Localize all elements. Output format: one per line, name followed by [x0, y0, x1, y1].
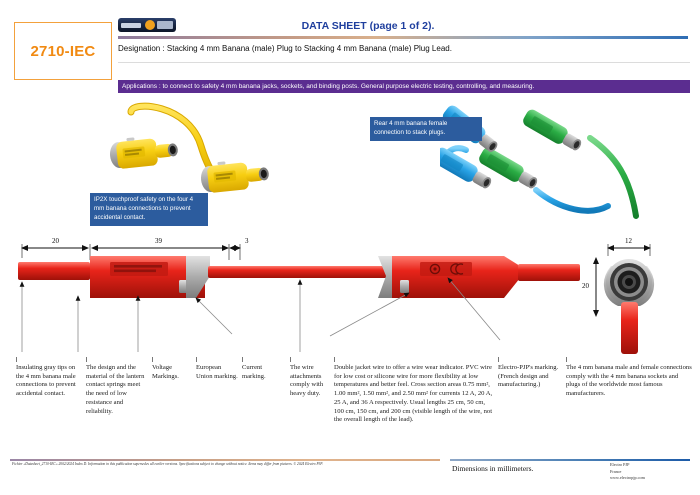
electro-pjp-logo-icon: [118, 18, 176, 32]
note-text: Current marking.: [242, 364, 266, 380]
designation-text: Designation : Stacking 4 mm Banana (male…: [118, 41, 690, 63]
note-tick: [498, 357, 499, 362]
note-text: Insulating gray tips on the 4 mm banana …: [16, 364, 76, 397]
note-voltage-markings: Voltage Markings.: [152, 364, 192, 381]
note-text: The design and the material of the lante…: [86, 364, 144, 415]
note-wire-spec: Double jacket wire to offer a wire wear …: [334, 364, 494, 425]
note-tick: [152, 357, 153, 362]
footer-legal-text: Fichier «Datasheet_2710-IEC» 2002/2024 I…: [12, 462, 442, 467]
logo-bar: [121, 23, 141, 28]
logo-text-block: [157, 21, 173, 29]
footer-rule-left: [10, 459, 440, 461]
note-text: Voltage Markings.: [152, 364, 179, 380]
note-text: Double jacket wire to offer a wire wear …: [334, 364, 492, 423]
datasheet-title: DATA SHEET (page 1 of 2).: [258, 20, 478, 32]
applications-banner: Applications : to connect to safety 4 mm…: [118, 80, 690, 93]
note-eu-marking: European Union marking.: [196, 364, 238, 381]
dim-39: 39: [155, 237, 162, 245]
note-text: The 4 mm banana male and female connecti…: [566, 364, 692, 397]
note-text: The wire attachments comply with heavy d…: [290, 364, 323, 397]
note-gray-tips: Insulating gray tips on the 4 mm banana …: [16, 364, 78, 399]
note-tick: [566, 357, 567, 362]
dim-3: 3: [245, 237, 249, 245]
footer-rule-right: [450, 459, 690, 461]
note-pjp-marking: Electro-PJP's marking. (French design an…: [498, 364, 560, 390]
rear-connection-callout: Rear 4 mm banana female connection to st…: [370, 117, 482, 141]
note-text: Electro-PJP's marking. (French design an…: [498, 364, 558, 388]
dim-20-right: 20: [582, 282, 589, 290]
header-gradient-rule: [118, 36, 688, 39]
note-text: European Union marking.: [196, 364, 238, 380]
product-reference: 2710-IEC: [31, 43, 96, 60]
footer-company-block: Electro PJP France www.electropjp.com: [610, 462, 696, 482]
note-tick: [86, 357, 87, 362]
note-tick: [242, 357, 243, 362]
product-photo-area: IP2X touchproof safety on the four 4 mm …: [0, 98, 700, 238]
note-tick: [290, 357, 291, 362]
dim-12-top: 12: [625, 237, 632, 245]
annotation-notes: Insulating gray tips on the 4 mm banana …: [0, 360, 700, 455]
footer-website[interactable]: www.electropjp.com: [610, 475, 696, 482]
note-tick: [334, 357, 335, 362]
ip2x-callout: IP2X touchproof safety on the four 4 mm …: [90, 193, 208, 226]
note-wire-attachments: The wire attachments comply with heavy d…: [290, 364, 330, 399]
note-compatibility: The 4 mm banana male and female connecti…: [566, 364, 692, 399]
note-tick: [196, 357, 197, 362]
footer-dimensions-note: Dimensions in millimeters.: [452, 464, 602, 473]
note-tick: [16, 357, 17, 362]
logo-dot: [145, 20, 155, 30]
product-reference-box: 2710-IEC: [14, 22, 112, 80]
technical-drawing: 20 39 3 12 20: [0, 236, 700, 356]
datasheet-page: 2710-IEC DATA SHEET (page 1 of 2). Desig…: [0, 0, 700, 495]
dim-20-left: 20: [52, 237, 59, 245]
note-lantern-contact: The design and the material of the lante…: [86, 364, 148, 416]
note-current-marking: Current marking.: [242, 364, 286, 381]
